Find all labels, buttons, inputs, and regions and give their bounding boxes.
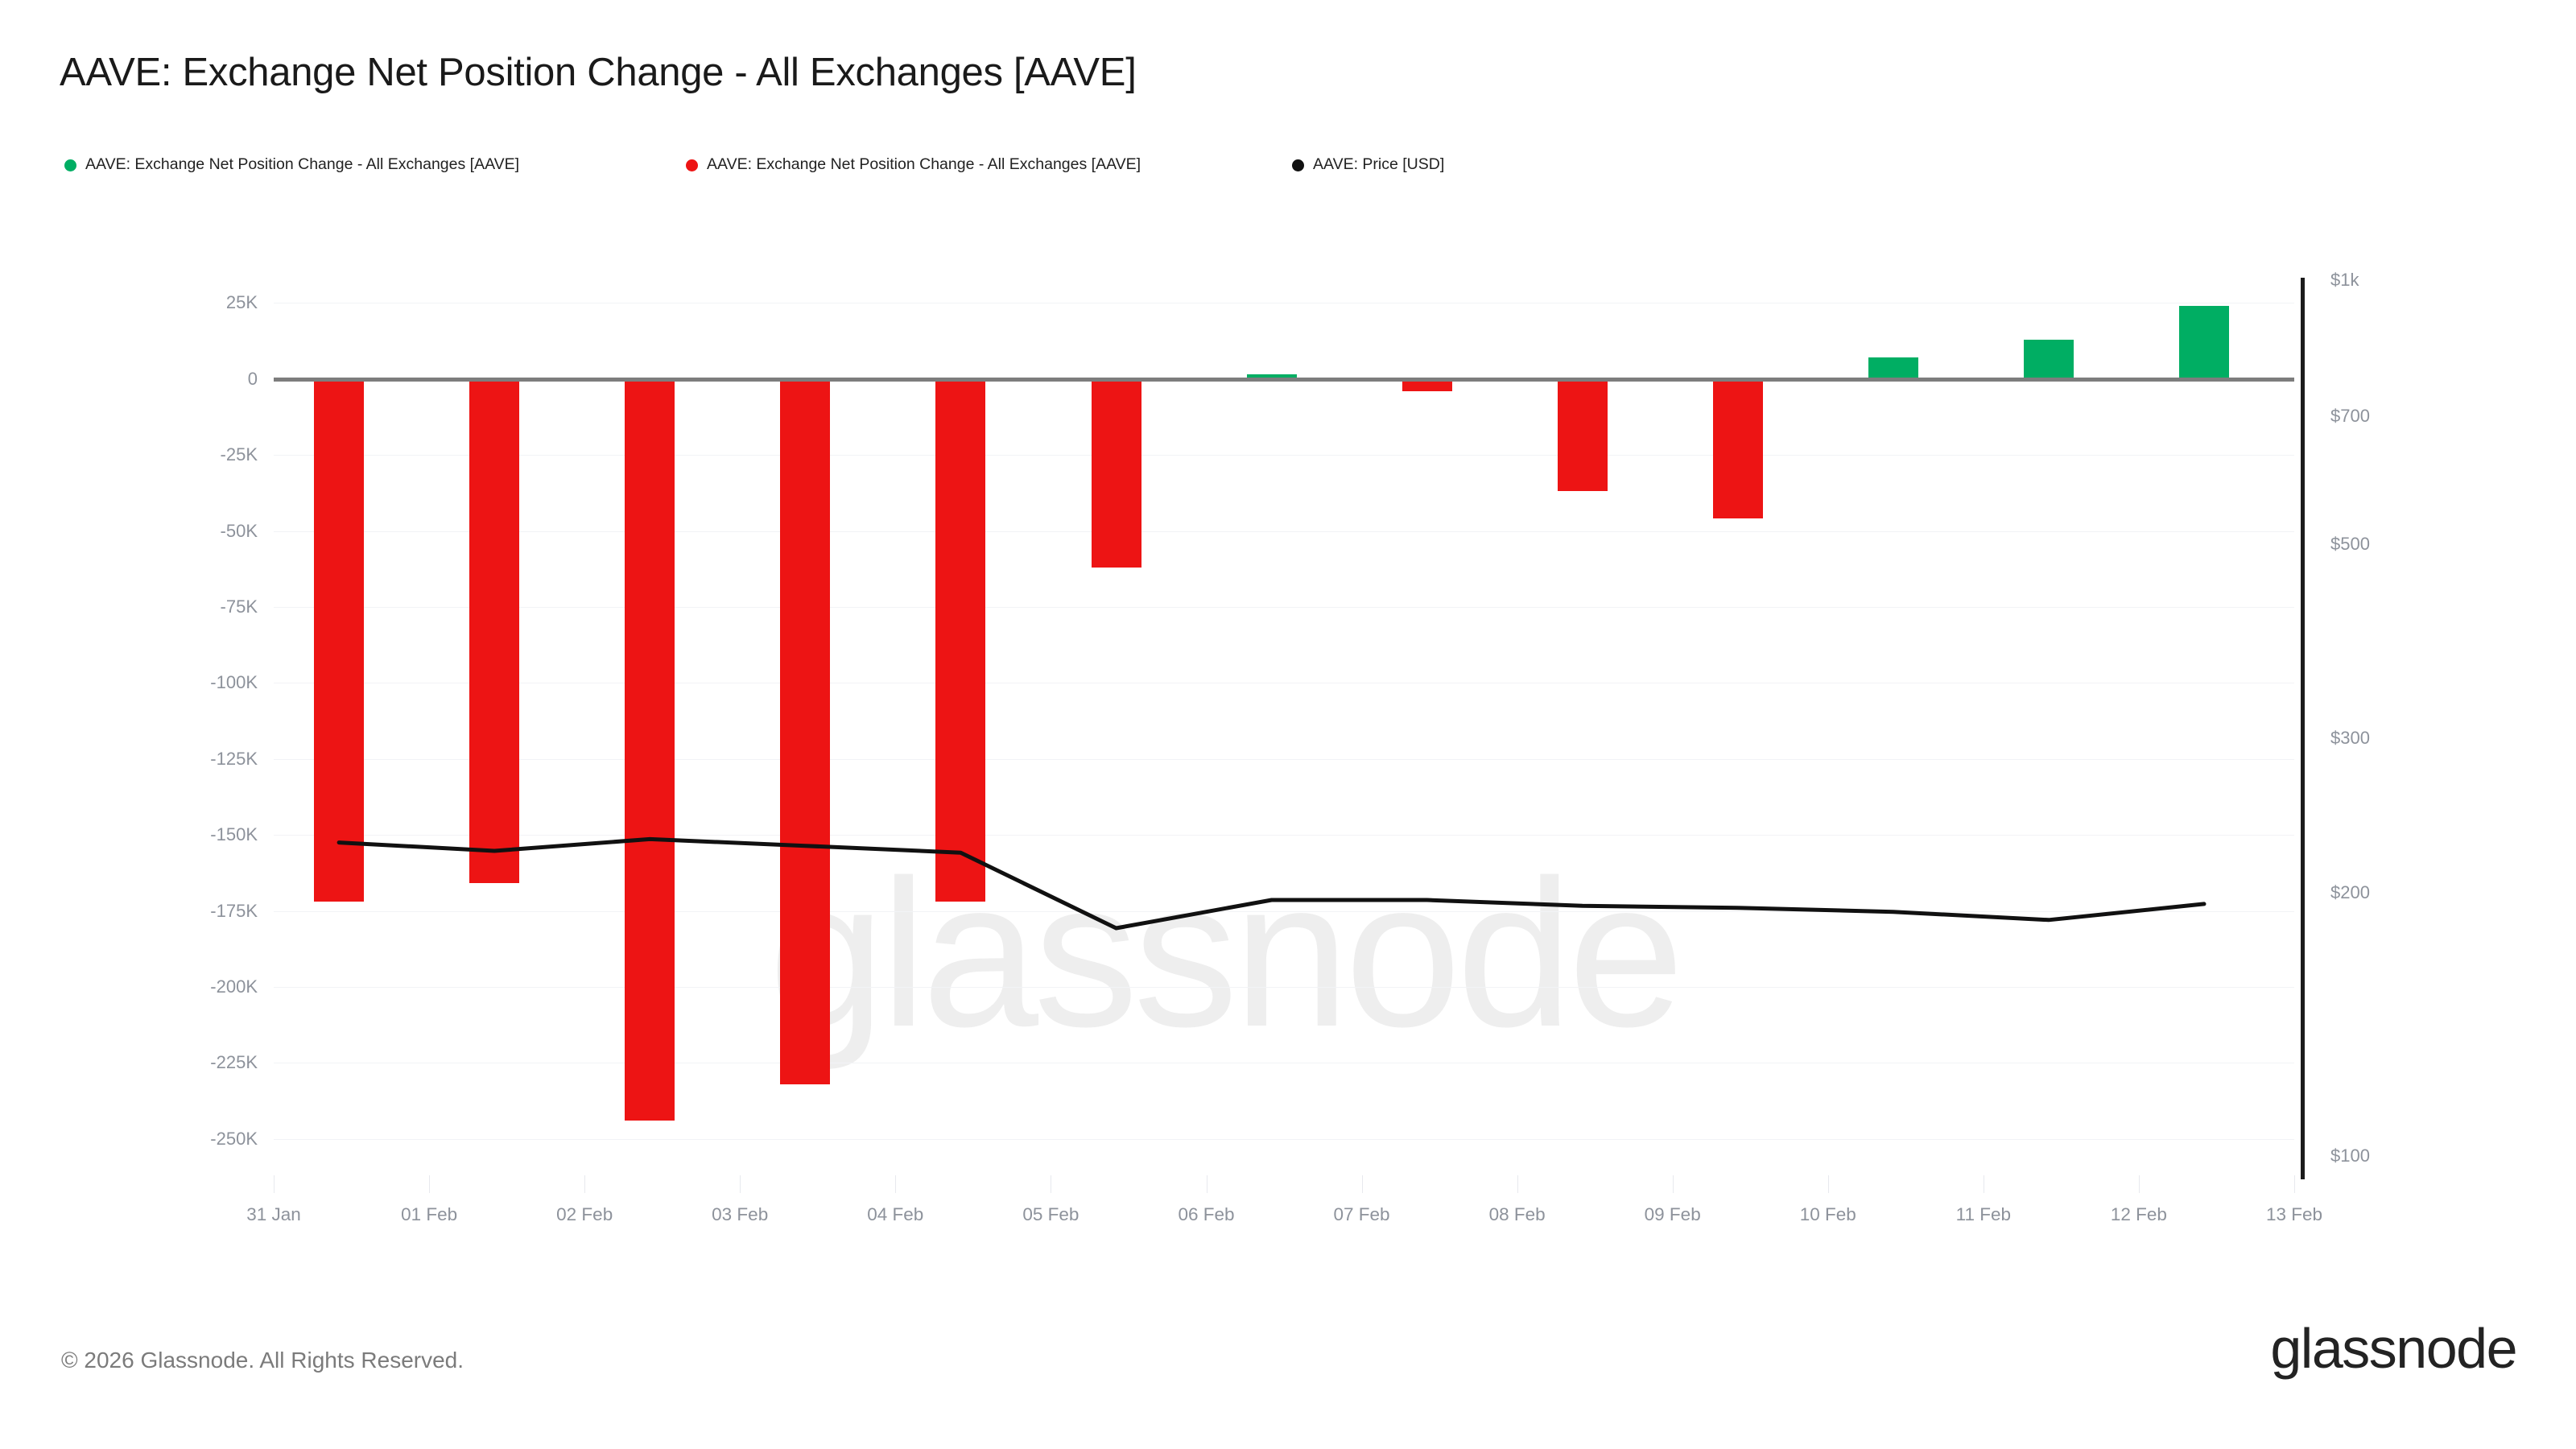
legend-item-net-position-positive[interactable]: AAVE: Exchange Net Position Change - All… xyxy=(64,153,519,177)
left-axis-tick-label: 0 xyxy=(72,369,258,390)
footer-divider xyxy=(0,1280,2576,1281)
legend-label: AAVE: Exchange Net Position Change - All… xyxy=(707,157,1141,173)
x-axis-tick-label: 13 Feb xyxy=(2266,1204,2322,1225)
x-axis-tick xyxy=(1517,1175,1518,1193)
legend-item-net-position-negative[interactable]: AAVE: Exchange Net Position Change - All… xyxy=(686,153,1141,177)
x-axis-tick-label: 08 Feb xyxy=(1489,1204,1546,1225)
left-axis-tick-label: 25K xyxy=(72,292,258,313)
x-axis-tick-label: 06 Feb xyxy=(1178,1204,1234,1225)
x-axis-tick xyxy=(895,1175,896,1193)
legend-dot-black-icon xyxy=(1292,159,1304,171)
legend-label: AAVE: Price [USD] xyxy=(1313,157,1444,173)
x-axis-tick-label: 11 Feb xyxy=(1956,1204,2011,1225)
right-axis-tick-label: $200 xyxy=(2330,882,2370,903)
legend-item-price[interactable]: AAVE: Price [USD] xyxy=(1292,153,1444,177)
plot-area: glassnode xyxy=(274,282,2294,1175)
x-axis-tick-label: 03 Feb xyxy=(712,1204,768,1225)
right-axis-line xyxy=(2301,278,2305,1179)
left-axis-tick-label: -250K xyxy=(72,1129,258,1150)
x-axis-tick-label: 01 Feb xyxy=(401,1204,457,1225)
page-title: AAVE: Exchange Net Position Change - All… xyxy=(60,50,1137,95)
legend-dot-green-icon xyxy=(64,159,76,171)
x-axis-tick xyxy=(1362,1175,1363,1193)
x-axis-tick-label: 09 Feb xyxy=(1645,1204,1701,1225)
x-axis-tick xyxy=(1984,1175,1984,1193)
x-axis-tick xyxy=(1051,1175,1051,1193)
x-axis-tick xyxy=(274,1175,275,1193)
chart-page: AAVE: Exchange Net Position Change - All… xyxy=(0,0,2576,1449)
x-axis-tick-label: 31 Jan xyxy=(246,1204,301,1225)
right-axis-tick-label: $100 xyxy=(2330,1146,2370,1166)
x-axis-tick xyxy=(2139,1175,2140,1193)
left-axis-tick-label: -150K xyxy=(72,824,258,845)
right-axis-tick-label: $1k xyxy=(2330,270,2359,291)
x-axis-tick xyxy=(1207,1175,1207,1193)
x-axis-tick-label: 04 Feb xyxy=(867,1204,923,1225)
right-axis-tick-label: $300 xyxy=(2330,728,2370,749)
left-axis-tick-label: -200K xyxy=(72,976,258,997)
x-axis-tick xyxy=(1673,1175,1674,1193)
left-axis-tick-label: -125K xyxy=(72,749,258,770)
copyright-text: © 2026 Glassnode. All Rights Reserved. xyxy=(61,1348,464,1373)
left-axis-tick-label: -25K xyxy=(72,444,258,465)
left-axis-tick-label: -75K xyxy=(72,597,258,617)
left-axis-tick-label: -175K xyxy=(72,901,258,922)
x-axis-tick xyxy=(2294,1175,2295,1193)
left-axis-tick-label: -100K xyxy=(72,672,258,693)
x-axis-tick-label: 07 Feb xyxy=(1333,1204,1389,1225)
x-axis-tick xyxy=(429,1175,430,1193)
x-axis-tick xyxy=(1828,1175,1829,1193)
right-axis-tick-label: $700 xyxy=(2330,406,2370,427)
x-axis-tick-label: 10 Feb xyxy=(1800,1204,1856,1225)
x-axis-tick xyxy=(584,1175,585,1193)
x-axis-tick-label: 02 Feb xyxy=(556,1204,613,1225)
price-line-series xyxy=(274,282,2294,1175)
x-axis-tick xyxy=(740,1175,741,1193)
x-axis-tick-label: 05 Feb xyxy=(1022,1204,1079,1225)
right-axis-tick-label: $500 xyxy=(2330,534,2370,555)
legend-label: AAVE: Exchange Net Position Change - All… xyxy=(85,157,519,173)
left-axis-tick-label: -225K xyxy=(72,1052,258,1073)
zero-baseline xyxy=(274,378,2294,382)
glassnode-logo: glassnode xyxy=(2270,1320,2516,1377)
left-axis-tick-label: -50K xyxy=(72,521,258,542)
x-axis-tick-label: 12 Feb xyxy=(2111,1204,2167,1225)
legend-dot-red-icon xyxy=(686,159,698,171)
